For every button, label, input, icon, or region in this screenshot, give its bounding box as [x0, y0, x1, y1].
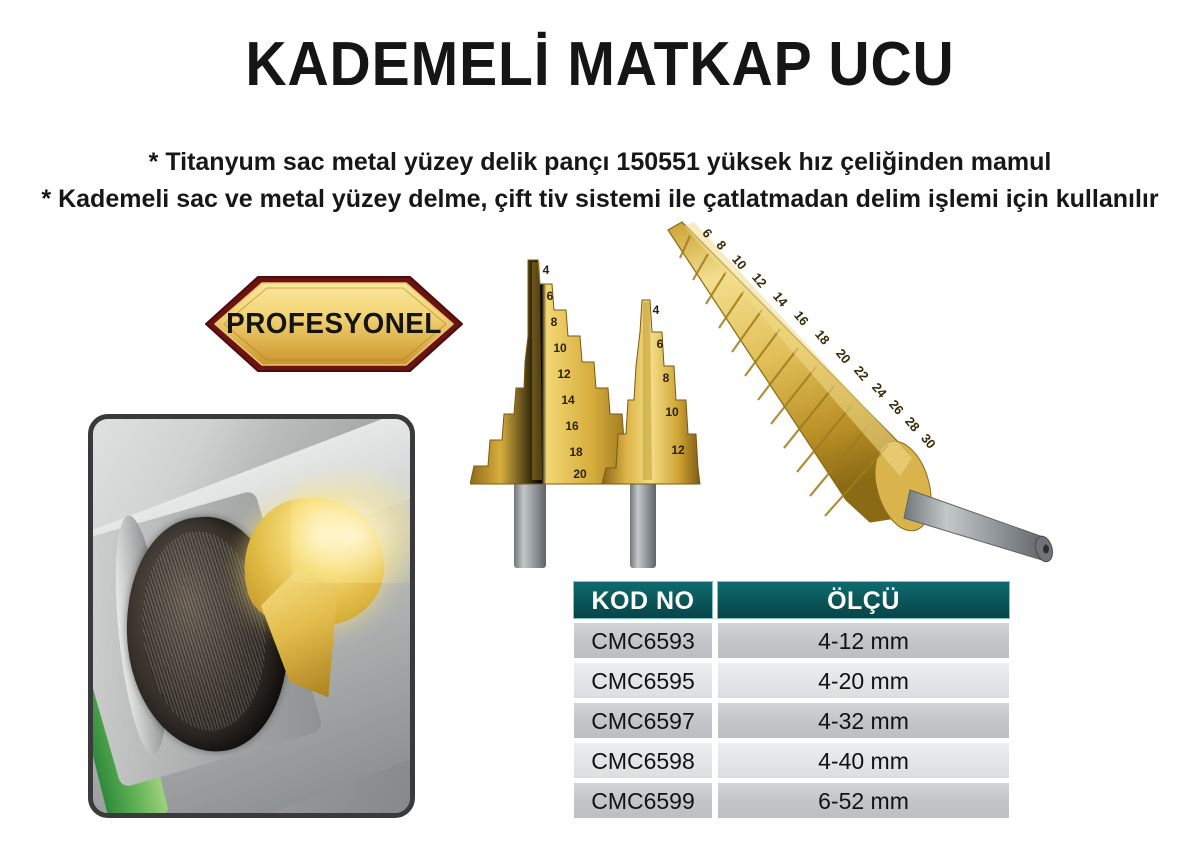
description-line-1: * Titanyum sac metal yüzey delik pançı 1…	[0, 147, 1200, 177]
cell-code: CMC6597	[573, 702, 713, 739]
svg-text:12: 12	[557, 367, 571, 381]
cell-size: 4-12 mm	[717, 622, 1010, 659]
svg-text:30: 30	[918, 431, 939, 452]
cell-size: 4-40 mm	[717, 742, 1010, 779]
table-header-kod-no: KOD NO	[573, 581, 713, 619]
svg-text:20: 20	[833, 346, 854, 367]
svg-text:6: 6	[547, 289, 554, 303]
badge-label: PROFESYONEL	[203, 272, 464, 376]
svg-text:16: 16	[791, 308, 812, 329]
svg-text:18: 18	[569, 445, 583, 459]
svg-text:26: 26	[886, 397, 907, 418]
photo-light-glare	[291, 463, 410, 583]
cell-code: CMC6595	[573, 662, 713, 699]
page-title: KADEMELİ MATKAP UCU	[48, 32, 1152, 98]
cell-size: 4-20 mm	[717, 662, 1010, 699]
svg-text:14: 14	[561, 393, 575, 407]
svg-text:10: 10	[553, 341, 567, 355]
svg-text:4: 4	[653, 303, 660, 317]
svg-text:8: 8	[663, 371, 670, 385]
table-row[interactable]: CMC6598 4-40 mm	[573, 742, 1010, 779]
bit-large-group: 6 8 10 12 14 16 18 20 22 24 26 28 30	[668, 222, 1055, 564]
svg-text:6: 6	[657, 337, 664, 351]
svg-text:20: 20	[573, 467, 587, 481]
table-row[interactable]: CMC6593 4-12 mm	[573, 622, 1010, 659]
svg-text:10: 10	[665, 405, 679, 419]
cell-size: 6-52 mm	[717, 782, 1010, 819]
cell-code: CMC6593	[573, 622, 713, 659]
table-header-olcu: ÖLÇÜ	[717, 581, 1010, 619]
professional-badge: PROFESYONEL	[198, 272, 470, 376]
svg-text:24: 24	[869, 380, 890, 401]
bit-medium-group: 4 6 8 10 12 14 16 18 20	[470, 260, 640, 568]
svg-text:8: 8	[551, 315, 558, 329]
table-row[interactable]: CMC6597 4-32 mm	[573, 702, 1010, 739]
table-row[interactable]: CMC6599 6-52 mm	[573, 782, 1010, 819]
svg-text:28: 28	[902, 414, 923, 435]
svg-text:14: 14	[770, 289, 791, 310]
svg-text:12: 12	[671, 443, 685, 457]
description-line-2: * Kademeli sac ve metal yüzey delme, çif…	[0, 184, 1200, 214]
cell-code: CMC6599	[573, 782, 713, 819]
svg-text:16: 16	[565, 419, 579, 433]
product-photo-image	[93, 419, 410, 813]
cell-code: CMC6598	[573, 742, 713, 779]
svg-text:18: 18	[812, 327, 833, 348]
spec-table: KOD NO ÖLÇÜ CMC6593 4-12 mm CMC6595 4-20…	[573, 581, 1010, 819]
product-photo-panel	[88, 414, 415, 818]
cell-size: 4-32 mm	[717, 702, 1010, 739]
table-header-row: KOD NO ÖLÇÜ	[573, 581, 1010, 619]
svg-text:22: 22	[851, 363, 872, 384]
product-bits-illustration: 4 6 8 10 12 14 16 18 20 4 6 8 10 12	[470, 218, 1130, 578]
svg-text:4: 4	[543, 263, 550, 277]
table-row[interactable]: CMC6595 4-20 mm	[573, 662, 1010, 699]
